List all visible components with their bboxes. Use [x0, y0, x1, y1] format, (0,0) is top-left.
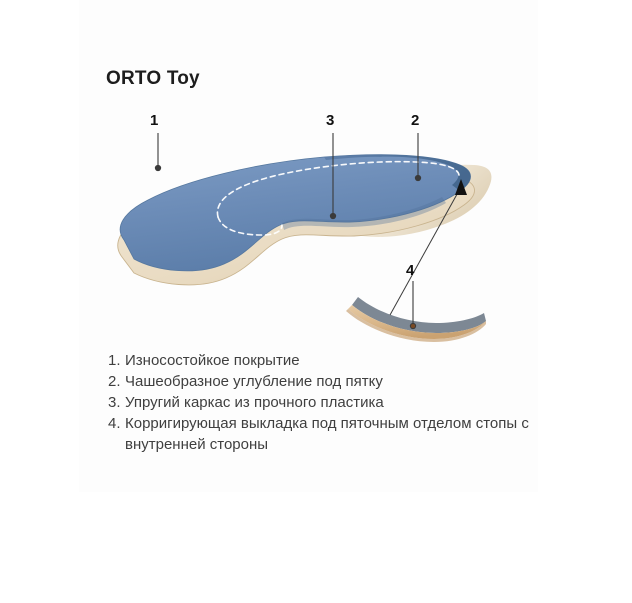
list-item: 2. Чашеобразное углубление под пятку	[108, 371, 538, 392]
list-item-text: Корригирующая выкладка под пяточным отде…	[125, 413, 538, 455]
callout-number-3: 3	[326, 113, 334, 128]
list-item: 3. Упругий каркас из прочного пластика	[108, 392, 538, 413]
callout-number-4: 4	[406, 263, 414, 278]
callout-number-2: 2	[411, 113, 419, 128]
list-item: 1. Износостойкое покрытие	[108, 350, 538, 371]
leader-dot-1	[155, 165, 160, 170]
product-image-page: ORTO Toy	[0, 0, 632, 603]
list-item-marker: 1.	[108, 350, 125, 371]
list-item-marker: 2.	[108, 371, 125, 392]
page-title: ORTO Toy	[106, 68, 200, 90]
list-item-marker: 4.	[108, 413, 125, 434]
leader-dot-3	[330, 213, 335, 218]
list-item-text: Чашеобразное углубление под пятку	[125, 371, 538, 392]
feature-list: 1. Износостойкое покрытие 2. Чашеобразно…	[108, 350, 538, 455]
leader-dot-4	[410, 323, 415, 328]
list-item-text: Упругий каркас из прочного пластика	[125, 392, 538, 413]
insole-diagram: 1 3 2 4	[86, 105, 546, 345]
corrective-heel-wedge	[346, 297, 486, 342]
insole-illustration-svg	[86, 105, 546, 345]
list-item-marker: 3.	[108, 392, 125, 413]
leader-dot-2	[415, 175, 420, 180]
callout-number-1: 1	[150, 113, 158, 128]
list-item: 4. Корригирующая выкладка под пяточным о…	[108, 413, 538, 455]
list-item-text: Износостойкое покрытие	[125, 350, 538, 371]
